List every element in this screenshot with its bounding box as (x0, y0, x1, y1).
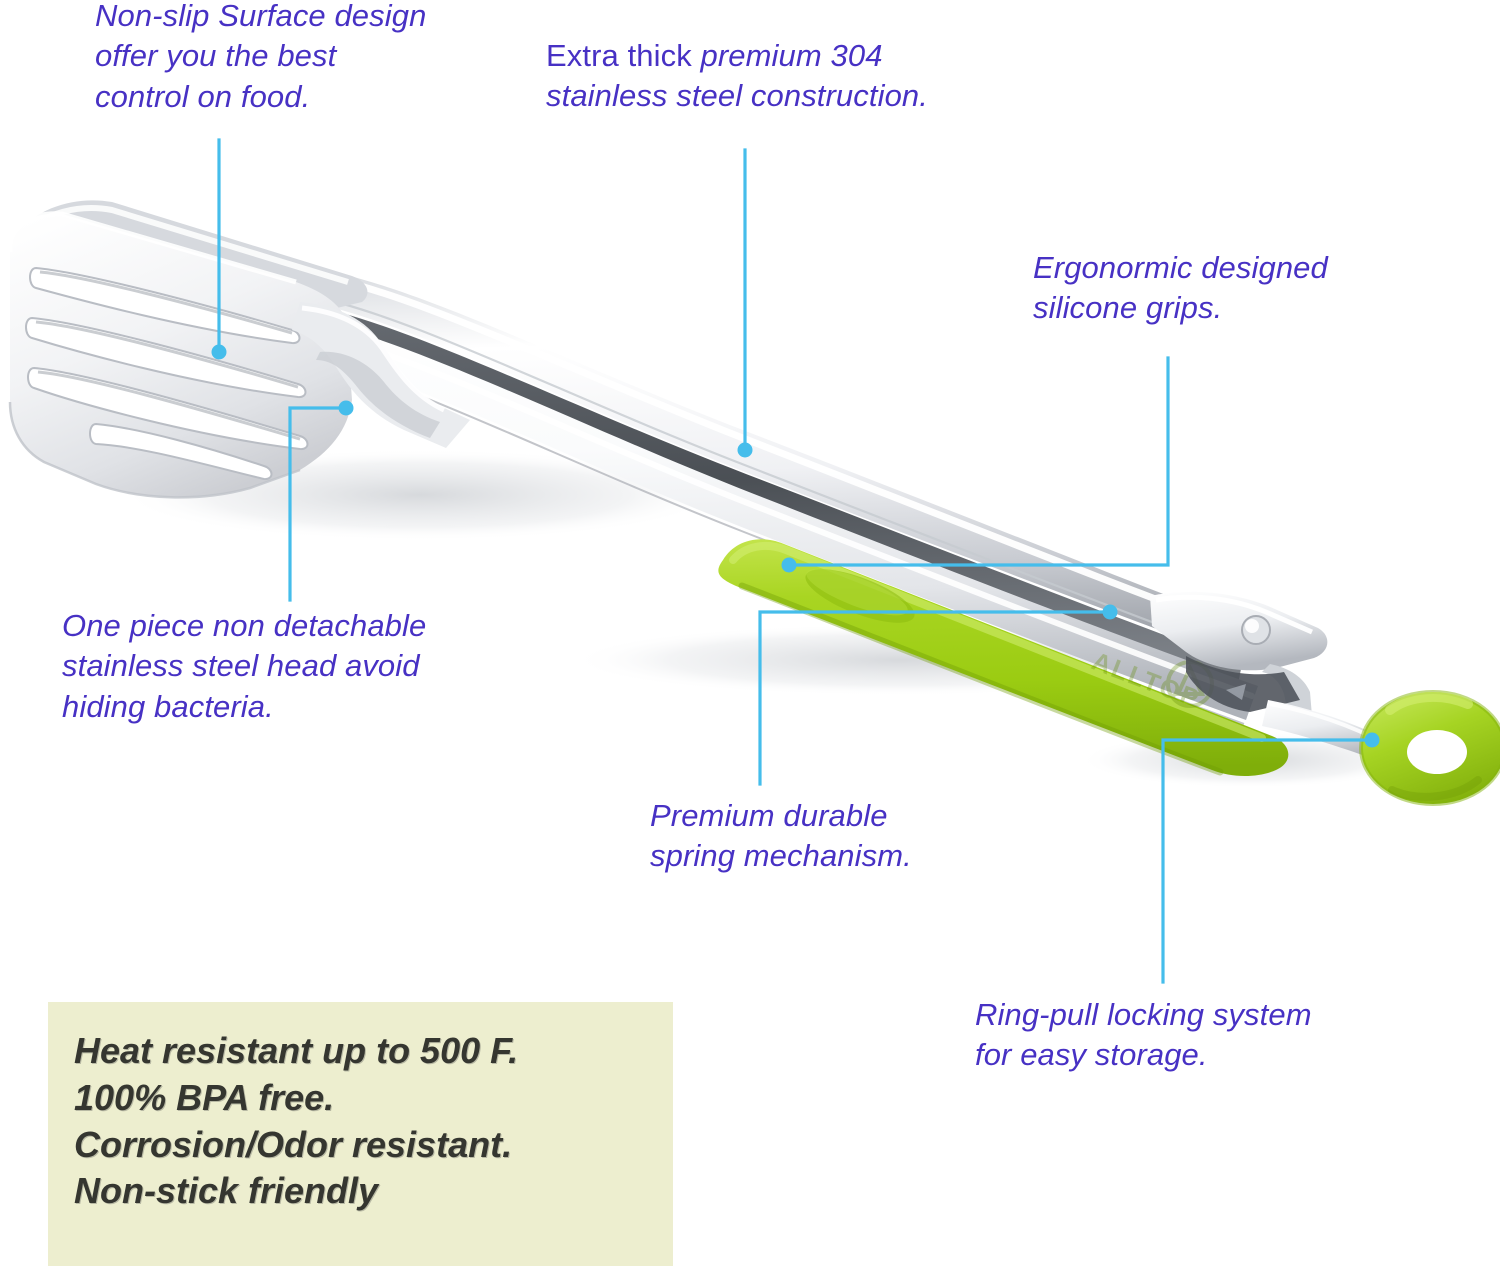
specs-panel-text: Heat resistant up to 500 F. 100% BPA fre… (74, 1028, 664, 1215)
callout-one-piece-head: One piece non detachable stainless steel… (62, 606, 522, 727)
callout-non-slip-surface: Non-slip Surface design offer you the be… (95, 0, 515, 117)
specs-panel: Heat resistant up to 500 F. 100% BPA fre… (48, 1002, 673, 1266)
callout-ring-pull-lock: Ring-pull locking system for easy storag… (975, 995, 1395, 1076)
callout-extra-thick: Extra thick premium 304 stainless steel … (546, 36, 1026, 117)
callout-extra-thick-lead: Extra thick (546, 38, 692, 73)
callout-spring-mechanism: Premium durable spring mechanism. (650, 796, 990, 877)
callout-ergonomic-grips: Ergonormic designed silicone grips. (1033, 248, 1413, 329)
infographic-canvas: ALLTOP (0, 0, 1500, 1277)
green-pull-ring (1361, 692, 1500, 804)
